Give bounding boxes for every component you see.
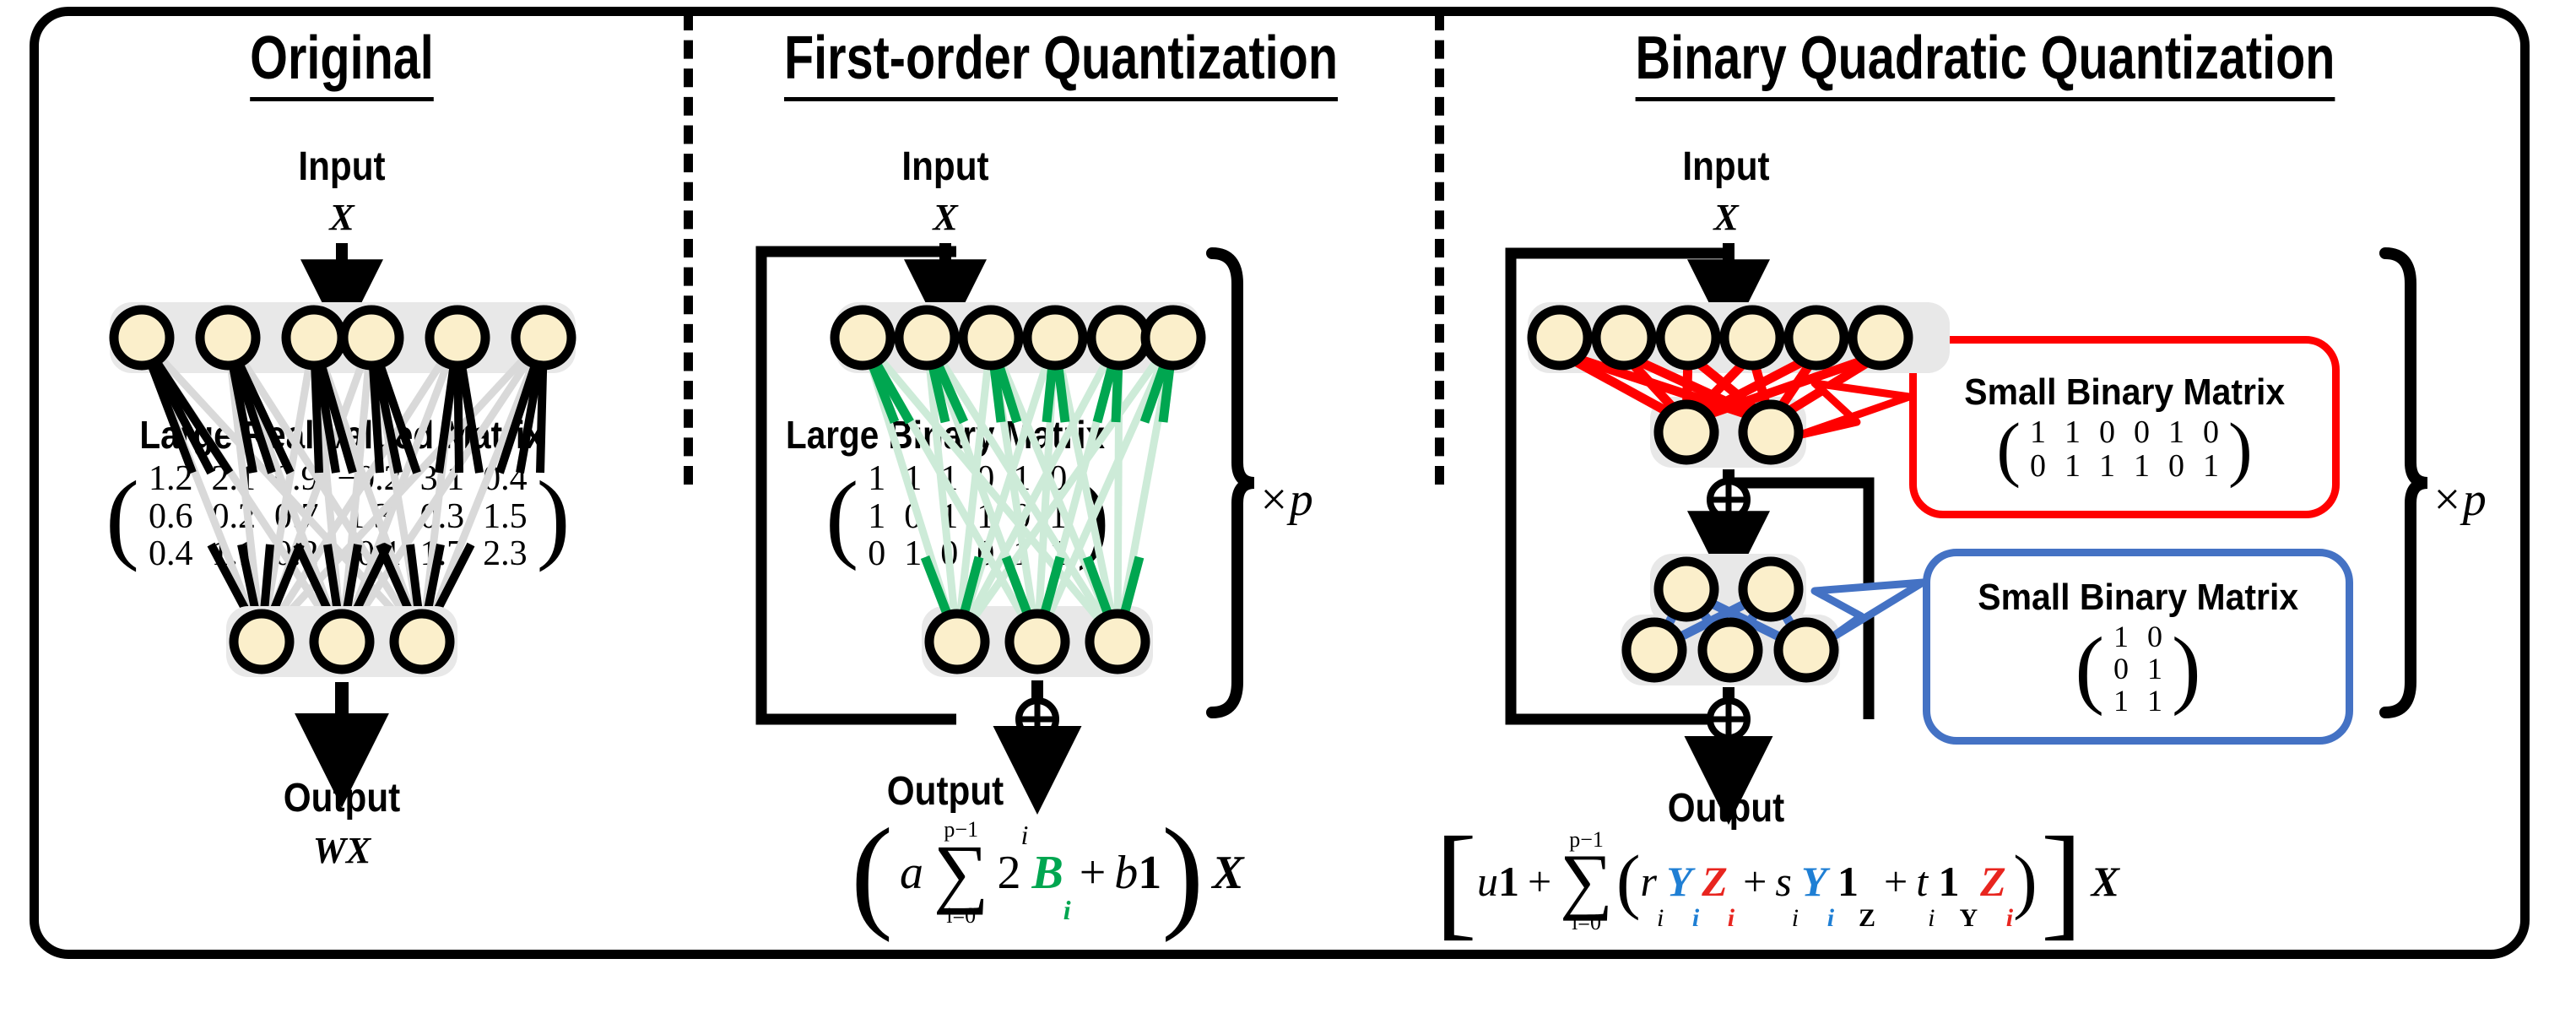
formula-times-x: X — [1212, 846, 1243, 900]
matrix-cell: 2.1 — [202, 460, 265, 498]
formula-paren-close: ) — [2013, 848, 2038, 914]
matrix-cell: 1.3 — [327, 498, 410, 536]
formula-sum-symbol: ∑ — [1560, 851, 1613, 912]
panel2-matrix-caption: Large Binary Matrix — [760, 412, 1131, 458]
formula-one: 1 — [1498, 857, 1519, 906]
formula-term-base: 2 — [998, 846, 1021, 900]
matrix-cell: 1 — [2055, 449, 2090, 483]
formula-one: 1 — [1138, 846, 1161, 900]
panel1-matrix-caption: Large Real-valued Matrix — [41, 412, 643, 458]
panel2-output-formula: ( a p−1 ∑ i=0 2 i B i + b 1 ) X — [851, 815, 1244, 931]
panel2-output-label: Output — [760, 768, 1131, 815]
matrix-cell: 1 — [2138, 685, 2172, 717]
callout-red-small-binary-matrix: Small Binary Matrix ( 1 1 0 0 1 0 0 1 1 … — [1909, 336, 2340, 518]
table-row: 0 1 1 1 0 1 — [2021, 449, 2228, 483]
panel2-matrix: ( 1 1 1 0 1 0 1 0 1 1 0 1 0 1 0 — [825, 460, 1110, 573]
matrix-cell: 0 — [1004, 498, 1040, 536]
matrix-cell: 0 — [895, 498, 931, 536]
table-row: 0.6 0.2 0.7 1.3 0.3 1.5 — [139, 498, 537, 536]
matrix-paren-close: ) — [1076, 471, 1109, 563]
matrix-cell: 1 — [931, 498, 967, 536]
matrix-cell: 0.2 — [265, 535, 328, 573]
formula-bracket-open: [ — [1435, 823, 1477, 940]
matrix-cell: 0 — [2124, 415, 2159, 449]
matrix-cell: 0 — [2090, 415, 2124, 449]
callout-blue-title: Small Binary Matrix — [1978, 577, 2298, 619]
matrix-cell: 1 — [2124, 449, 2159, 483]
panel-divider-1 — [684, 12, 693, 485]
formula-t-subscript: i — [1928, 904, 1935, 933]
formula-coef-b: b — [1114, 846, 1138, 900]
matrix-cell: 1 — [2104, 620, 2138, 653]
matrix-cell: 1 — [2090, 449, 2124, 483]
matrix-paren-open: ( — [825, 471, 858, 563]
formula-sum-lower: i=0 — [1572, 912, 1601, 934]
matrix-cell: 1 — [2194, 449, 2228, 483]
matrix-table: 1 1 1 0 1 0 1 0 1 1 0 1 0 1 0 0 1 1 — [858, 460, 1076, 573]
matrix-cell: 1 — [1004, 460, 1040, 498]
formula-plus-3: + — [1884, 857, 1908, 906]
callout-red-matrix: ( 1 1 0 0 1 0 0 1 1 1 0 1 — [1996, 415, 2252, 484]
formula-one-z: 1 — [1837, 857, 1859, 906]
panel-divider-2 — [1435, 12, 1444, 485]
formula-paren-open: ( — [851, 815, 893, 931]
formula-plus-1: + — [1528, 857, 1551, 906]
matrix-cell: 1 — [895, 460, 931, 498]
formula-t: t — [1916, 857, 1928, 906]
matrix-cell: 0.2 — [202, 498, 265, 536]
matrix-cell: 0 — [2159, 449, 2194, 483]
formula-coef-a: a — [900, 846, 923, 900]
formula-term-exponent: i — [1021, 820, 1029, 851]
matrix-cell: 0 — [2194, 415, 2228, 449]
matrix-cell: 1 — [2138, 653, 2172, 685]
panel3-output-formula: [ u 1 + p−1 ∑ i=0 ( r i Y i Z i + s i Y … — [1435, 823, 2119, 940]
matrix-cell: 1 — [2021, 415, 2055, 449]
formula-times-x: X — [2092, 857, 2119, 906]
formula-Z-2: Z — [1980, 857, 2006, 906]
matrix-cell: 1 — [2055, 415, 2090, 449]
matrix-cell: 0 — [2138, 620, 2172, 653]
formula-Y-subscript: i — [1692, 904, 1699, 933]
table-row: 0 1 — [2104, 653, 2172, 685]
matrix-table: 1 0 0 1 1 1 — [2104, 620, 2172, 717]
matrix-cell: 1 — [2104, 685, 2138, 717]
table-row: 0.4 1.1 0.2 −0.1 1.7 2.3 — [139, 535, 537, 573]
panel-title-binary-quadratic: Binary Quadratic Quantization — [1546, 24, 2424, 93]
matrix-cell: 1.1 — [202, 535, 265, 573]
formula-plus: + — [1080, 846, 1107, 900]
matrix-cell: 0 — [2104, 653, 2138, 685]
panel1-matrix: ( 1.2 2.1 0.9 −0.2 3.1 0.4 0.6 0.2 0.7 1… — [106, 460, 571, 573]
matrix-paren-close: ) — [2172, 628, 2201, 709]
matrix-cell: −0.1 — [327, 535, 410, 573]
formula-Z-2-subscript: i — [2006, 904, 2013, 933]
matrix-cell: 0.9 — [265, 460, 328, 498]
table-row: 1 0 — [2104, 620, 2172, 653]
panel2-input-symbol: X — [734, 196, 1156, 239]
formula-s: s — [1775, 857, 1791, 906]
matrix-cell: 0 — [858, 535, 895, 573]
formula-one-y: 1 — [1939, 857, 1960, 906]
matrix-cell: 1 — [2159, 415, 2194, 449]
formula-paren-close: ) — [1161, 815, 1204, 931]
matrix-cell: 1.5 — [474, 498, 537, 536]
table-row: 1 1 — [2104, 685, 2172, 717]
matrix-cell: 0 — [967, 460, 1004, 498]
panel2-input-label: Input — [760, 144, 1131, 190]
formula-coef-u: u — [1477, 857, 1498, 906]
formula-matrix-symbol: B — [1031, 846, 1063, 900]
matrix-paren-open: ( — [106, 470, 139, 563]
formula-r-subscript: i — [1657, 904, 1664, 933]
formula-matrix-subscript: i — [1063, 895, 1071, 926]
matrix-paren-open: ( — [2075, 628, 2104, 709]
formula-sum-lower: i=0 — [946, 905, 976, 927]
panel1-output-formula: WX — [0, 829, 684, 872]
panel1-output-label: Output — [41, 775, 643, 821]
matrix-cell: 0.6 — [139, 498, 203, 536]
matrix-cell: 1.7 — [411, 535, 474, 573]
panel3-repeat-label: ×p — [2431, 473, 2487, 527]
panel3-input-symbol: X — [1519, 196, 1933, 239]
matrix-cell: 0.3 — [411, 498, 474, 536]
formula-one-y-subscript: Y — [1960, 904, 1978, 933]
matrix-paren-close: ) — [2228, 415, 2253, 482]
formula-sum-symbol: ∑ — [934, 841, 989, 904]
figure-root: Original Input X Large Real-valued Matri… — [0, 0, 2576, 1013]
matrix-cell: 0 — [1040, 460, 1076, 498]
matrix-cell: 1 — [931, 460, 967, 498]
panel-title-original: Original — [68, 24, 615, 93]
formula-one-z-subscript: Z — [1859, 904, 1875, 933]
callout-blue-small-binary-matrix: Small Binary Matrix ( 1 0 0 1 1 1 ) — [1923, 549, 2353, 745]
matrix-cell: 1 — [895, 535, 931, 573]
table-row: 0 1 0 0 1 1 — [858, 535, 1076, 573]
table-row: 1.2 2.1 0.9 −0.2 3.1 0.4 — [139, 460, 537, 498]
panel-title-first-order: First-order Quantization — [760, 24, 1361, 93]
matrix-cell: 1 — [967, 498, 1004, 536]
matrix-cell: −0.2 — [327, 460, 410, 498]
matrix-cell: 0 — [2021, 449, 2055, 483]
matrix-cell: 1.2 — [139, 460, 203, 498]
panel2-repeat-label: ×p — [1258, 473, 1313, 527]
formula-plus-2: + — [1743, 857, 1767, 906]
matrix-cell: 2.3 — [474, 535, 537, 573]
matrix-cell: 0 — [931, 535, 967, 573]
table-row: 1 1 1 0 1 0 — [858, 460, 1076, 498]
matrix-cell: 1 — [858, 460, 895, 498]
matrix-cell: 1 — [1040, 498, 1076, 536]
formula-bracket-close: ] — [2041, 823, 2083, 940]
matrix-cell: 0.7 — [265, 498, 328, 536]
matrix-cell: 1 — [858, 498, 895, 536]
matrix-table: 1.2 2.1 0.9 −0.2 3.1 0.4 0.6 0.2 0.7 1.3… — [139, 460, 537, 573]
matrix-paren-open: ( — [1996, 415, 2021, 482]
callout-red-title: Small Binary Matrix — [1964, 371, 2285, 414]
matrix-cell: 1 — [1040, 535, 1076, 573]
matrix-cell: 0.4 — [139, 535, 203, 573]
matrix-cell: 3.1 — [411, 460, 474, 498]
matrix-cell: 0 — [967, 535, 1004, 573]
matrix-paren-close: ) — [537, 470, 571, 563]
formula-Z: Z — [1702, 857, 1728, 906]
formula-paren-open: ( — [1616, 848, 1641, 914]
callout-blue-matrix: ( 1 0 0 1 1 1 ) — [2075, 620, 2200, 717]
formula-Z-subscript: i — [1728, 904, 1734, 933]
matrix-cell: 1 — [1004, 535, 1040, 573]
formula-s-subscript: i — [1792, 904, 1799, 933]
formula-r: r — [1641, 857, 1657, 906]
matrix-table: 1 1 0 0 1 0 0 1 1 1 0 1 — [2021, 415, 2228, 484]
formula-Y-2: Y — [1801, 857, 1827, 906]
formula-Y: Y — [1666, 857, 1692, 906]
table-row: 1 0 1 1 0 1 — [858, 498, 1076, 536]
panel3-input-label: Input — [1544, 144, 1908, 190]
table-row: 1 1 0 0 1 0 — [2021, 415, 2228, 449]
panel1-input-label: Input — [41, 144, 643, 190]
matrix-cell: 0.4 — [474, 460, 537, 498]
panel1-input-symbol: X — [0, 196, 684, 239]
formula-Y-2-subscript: i — [1827, 904, 1834, 933]
